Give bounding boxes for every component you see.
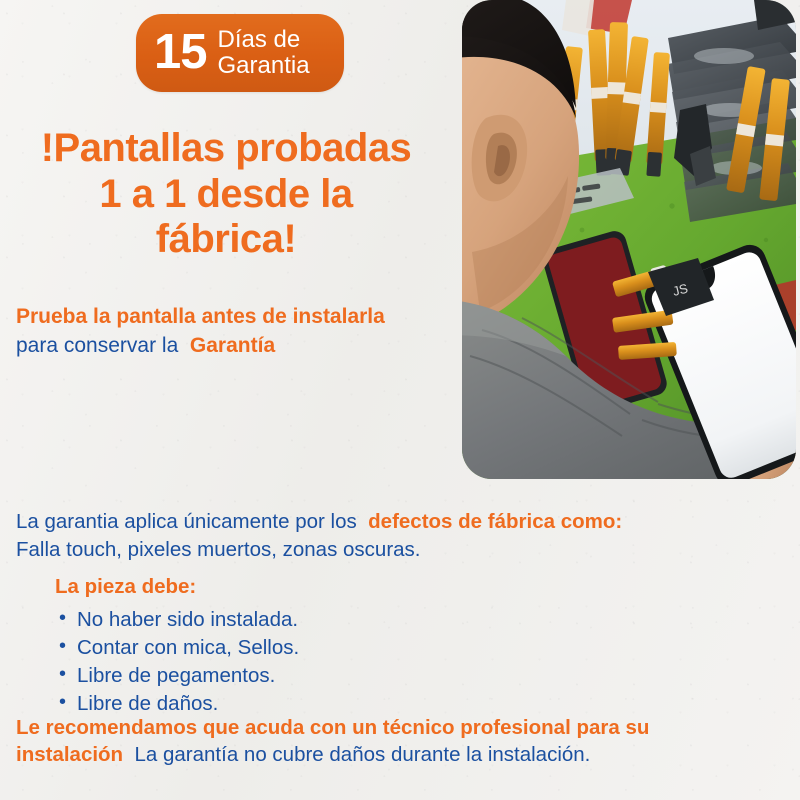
subheadline: Prueba la pantalla antes de instalarla p… <box>16 303 456 360</box>
badge-label: Días de Garantia <box>218 27 310 79</box>
warranty-note-line-1: La garantia aplica únicamente por los de… <box>16 508 786 536</box>
headline-line-3: fábrica! <box>0 217 452 263</box>
recommendation-normal-text: La garantía no cubre daños durante la in… <box>135 743 591 766</box>
recommendation-line-2: instalación La garantía no cubre daños d… <box>16 741 791 768</box>
warranty-days-badge: 15 Días de Garantia <box>136 14 344 92</box>
warranty-poster: 15 Días de Garantia !Pantallas probadas … <box>0 0 800 800</box>
warranty-note-prefix: La garantia aplica únicamente por los <box>16 510 357 533</box>
subheadline-secondary: para conservar la Garantía <box>16 332 456 359</box>
badge-label-line1: Días de <box>218 26 301 53</box>
requirements-title: La pieza debe: <box>55 575 485 599</box>
requirements-block: La pieza debe: No haber sido instalada. … <box>55 575 485 718</box>
subheadline-strong: Prueba la pantalla antes de instalarla <box>16 303 456 330</box>
warranty-note-accent: defectos de fábrica como: <box>368 510 622 533</box>
warranty-note-line-2: Falla touch, pixeles muertos, zonas oscu… <box>16 536 786 564</box>
subheadline-prefix: para conservar la <box>16 334 178 357</box>
headline-line-1: !Pantallas probadas <box>0 126 452 172</box>
list-item: Libre de pegamentos. <box>55 662 485 690</box>
requirements-list: No haber sido instalada. Contar con mica… <box>55 606 485 718</box>
list-item: No haber sido instalada. <box>55 606 485 634</box>
warranty-note: La garantia aplica únicamente por los de… <box>16 508 786 563</box>
badge-number: 15 <box>154 28 207 77</box>
headline: !Pantallas probadas 1 a 1 desde la fábri… <box>0 126 452 263</box>
photo-illustration: JS <box>462 0 796 479</box>
badge-label-line2: Garantia <box>218 52 310 79</box>
subheadline-accent-word: Garantía <box>190 334 275 357</box>
list-item: Contar con mica, Sellos. <box>55 634 485 662</box>
recommendation-strong-word: instalación <box>16 743 123 766</box>
factory-testing-photo: JS <box>462 0 796 479</box>
headline-line-2: 1 a 1 desde la <box>0 172 452 218</box>
recommendation-line-1: Le recomendamos que acuda con un técnico… <box>16 714 791 741</box>
recommendation-block: Le recomendamos que acuda con un técnico… <box>16 714 791 769</box>
